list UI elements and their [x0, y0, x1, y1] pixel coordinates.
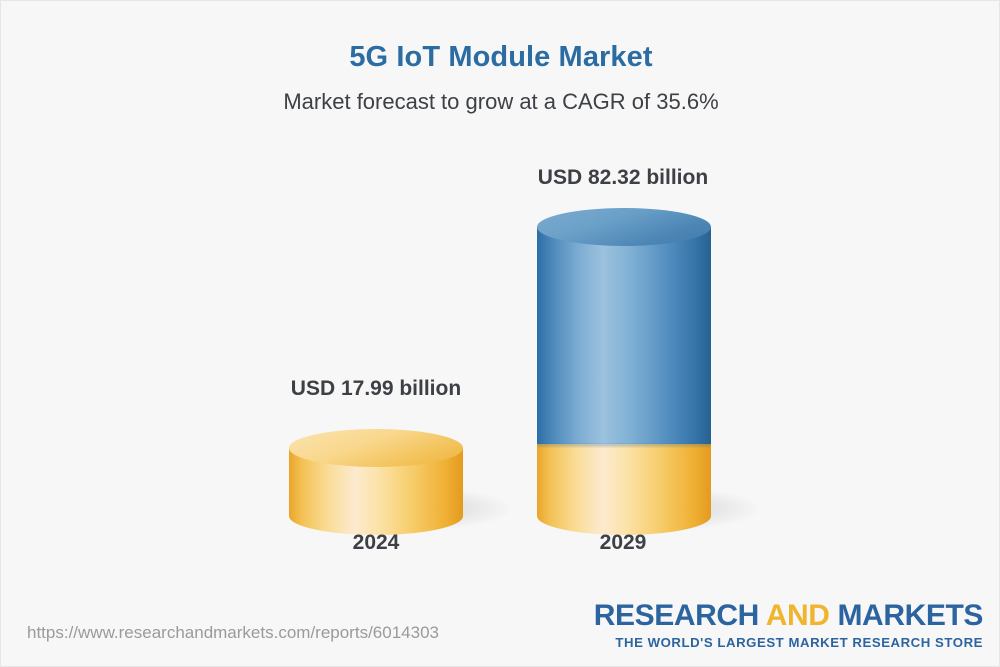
research-and-markets-logo[interactable]: RESEARCH AND MARKETS THE WORLD'S LARGEST…	[594, 601, 983, 649]
source-url[interactable]: https://www.researchandmarkets.com/repor…	[27, 623, 439, 643]
logo-word-research: RESEARCH	[594, 599, 766, 632]
logo-word-markets: MARKETS	[837, 599, 983, 632]
chart-subtitle: Market forecast to grow at a CAGR of 35.…	[1, 89, 1000, 115]
page-title: 5G IoT Module Market	[1, 41, 1000, 74]
cylinder-top-2024	[289, 429, 463, 467]
chart-canvas: 5G IoT Module Market Market forecast to …	[0, 0, 1000, 667]
category-label-2024: 2024	[251, 531, 501, 555]
category-label-2029: 2029	[498, 531, 748, 555]
logo-word-and: AND	[766, 599, 838, 632]
logo-tagline: THE WORLD'S LARGEST MARKET RESEARCH STOR…	[594, 636, 983, 649]
cylinder-segment-blue-2029	[537, 227, 711, 444]
value-label-2024: USD 17.99 billion	[251, 377, 501, 401]
value-label-2029: USD 82.32 billion	[498, 166, 748, 190]
cylinder-top-2029	[537, 208, 711, 246]
cylinder-segment-gold-2029	[537, 444, 711, 516]
logo-wordmark: RESEARCH AND MARKETS	[594, 601, 983, 631]
